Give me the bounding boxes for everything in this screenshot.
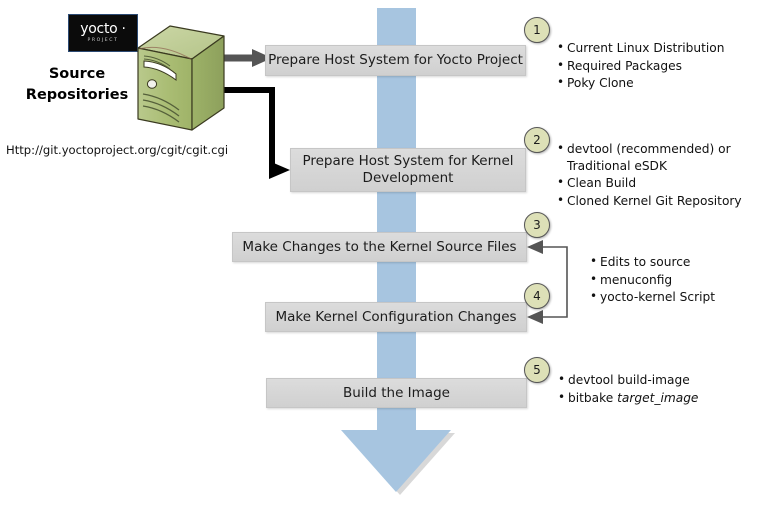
step-badge-4: 4	[524, 283, 550, 309]
source-repositories-url: Http://git.yoctoproject.org/cgit/cgit.cg…	[6, 143, 228, 157]
step-4-title: Make Kernel Configuration Changes	[275, 309, 516, 326]
step-4-number: 4	[533, 289, 541, 303]
step-2-number: 2	[533, 133, 541, 147]
source-repositories-label: Source Repositories	[16, 64, 138, 106]
server-icon	[132, 22, 232, 142]
workflow-diagram: yocto · PROJECT Source Repositories Http…	[0, 0, 769, 517]
yocto-logo-subtitle: PROJECT	[87, 37, 118, 44]
yocto-project-logo: yocto · PROJECT	[68, 14, 138, 52]
source-label-line1: Source	[16, 64, 138, 85]
step-box-4[interactable]: Make Kernel Configuration Changes	[265, 302, 527, 332]
step-badge-5: 5	[524, 357, 550, 383]
step-badge-1: 1	[524, 17, 550, 43]
list-item: menuconfig	[590, 272, 753, 289]
step-box-5[interactable]: Build the Image	[266, 378, 527, 408]
step-3-number: 3	[533, 218, 541, 232]
yocto-logo-word: yocto ·	[80, 22, 125, 36]
list-item: Poky Clone	[557, 75, 755, 92]
step-badge-3: 3	[524, 212, 550, 238]
step-box-2[interactable]: Prepare Host System for Kernel Developme…	[290, 148, 526, 192]
step-1-number: 1	[533, 23, 541, 37]
step-1-notes: Current Linux Distribution Required Pack…	[545, 40, 755, 93]
step-3-title: Make Changes to the Kernel Source Files	[242, 239, 516, 256]
step-box-1[interactable]: Prepare Host System for Yocto Project	[265, 45, 526, 76]
step-box-3[interactable]: Make Changes to the Kernel Source Files	[232, 232, 527, 262]
step-2-title: Prepare Host System for Kernel Developme…	[291, 153, 525, 187]
source-label-line2: Repositories	[16, 85, 138, 106]
step-5-title: Build the Image	[343, 385, 450, 402]
step-5-notes: devtool build-image bitbake target_image	[546, 372, 751, 407]
list-item: Required Packages	[557, 58, 755, 75]
step-5-number: 5	[533, 363, 541, 377]
list-item: devtool (recommended) or Traditional eSD…	[557, 141, 760, 174]
list-item: devtool build-image	[558, 372, 751, 389]
step-1-title: Prepare Host System for Yocto Project	[268, 52, 523, 69]
list-item: Edits to source	[590, 254, 753, 271]
bitbake-command: bitbake target_image	[568, 391, 698, 405]
step-badge-2: 2	[524, 127, 550, 153]
steps-3-4-shared-notes: Edits to source menuconfig yocto-kernel …	[578, 254, 753, 307]
flow-arrow-head	[341, 430, 451, 492]
connector-notes-to-steps-3-and-4	[523, 238, 578, 326]
list-item: Cloned Kernel Git Repository	[557, 193, 760, 210]
step-2-notes: devtool (recommended) or Traditional eSD…	[545, 141, 760, 210]
list-item: bitbake target_image	[558, 390, 751, 407]
list-item: Clean Build	[557, 175, 760, 192]
list-item: yocto-kernel Script	[590, 289, 753, 306]
list-item: Current Linux Distribution	[557, 40, 755, 57]
